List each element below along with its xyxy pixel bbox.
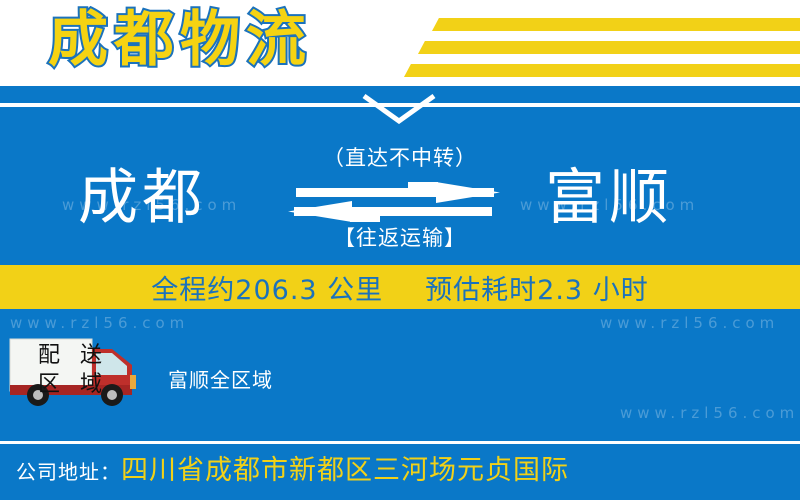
address-label: 公司地址： <box>16 460 121 484</box>
bidirectional-arrow-icon <box>288 182 500 222</box>
main-blue-panel: 成都 （直达不中转） 【往返运输】 富顺 全程约206.3 公里 预估耗时2.3… <box>0 86 800 500</box>
roundtrip-note: 【往返运输】 <box>300 222 500 252</box>
decorative-stripe-3 <box>404 64 800 77</box>
logistics-banner: 成都物流 成都 （直达不中转） 【往返运输】 富顺 全程约206 <box>0 0 800 500</box>
header-zone: 成都物流 <box>0 0 800 86</box>
chevron-down-icon <box>362 94 436 124</box>
watermark-5: www.rzl56.com <box>620 404 799 422</box>
watermark-3: www.rzl56.com <box>10 314 189 332</box>
decorative-stripe-2 <box>418 41 800 54</box>
delivery-truck-icon <box>8 335 150 407</box>
page-title: 成都物流 <box>48 2 312 78</box>
company-address: 公司地址：四川省成都市新都区三河场元贞国际 <box>16 454 569 491</box>
address-value: 四川省成都市新都区三河场元贞国际 <box>121 455 569 486</box>
direct-shipping-note: （直达不中转） <box>300 142 500 172</box>
distance-stat: 全程约206.3 公里 <box>151 268 383 307</box>
decorative-stripe-1 <box>432 18 800 31</box>
origin-city: 成都 <box>78 162 206 234</box>
duration-stat: 预估耗时2.3 小时 <box>425 268 649 307</box>
divider-bottom <box>0 441 800 444</box>
delivery-area-text: 富顺全区域 <box>168 364 273 393</box>
route-stats-bar: 全程约206.3 公里 预估耗时2.3 小时 <box>0 265 800 309</box>
destination-city: 富顺 <box>545 162 673 234</box>
watermark-4: www.rzl56.com <box>600 314 779 332</box>
